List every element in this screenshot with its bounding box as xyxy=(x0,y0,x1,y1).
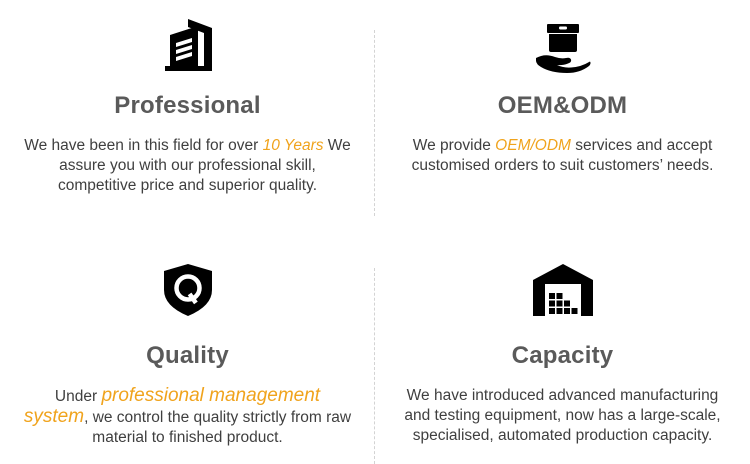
desc-text-part: Under xyxy=(55,388,102,405)
features-grid: Professional We have been in this field … xyxy=(0,0,750,464)
feature-description: We have introduced advanced manufacturin… xyxy=(398,386,728,446)
feature-card-quality: Quality Under professional management sy… xyxy=(0,232,375,464)
desc-text-part: , we control the quality strictly from r… xyxy=(84,409,351,446)
factory-building-icon xyxy=(157,8,219,76)
feature-card-oem-odm: OEM&ODM We provide OEM/ODM services and … xyxy=(375,0,750,232)
feature-card-professional: Professional We have been in this field … xyxy=(0,0,375,232)
feature-description: We have been in this field for over 10 Y… xyxy=(23,136,353,196)
desc-highlight: OEM/ODM xyxy=(495,137,571,154)
feature-description: We provide OEM/ODM services and accept c… xyxy=(404,136,722,176)
desc-text-part: We have been in this field for over xyxy=(24,137,262,154)
desc-text-part: We have introduced advanced manufacturin… xyxy=(404,387,720,444)
feature-description: Under professional management system, we… xyxy=(23,386,353,448)
feature-title: OEM&ODM xyxy=(498,92,627,120)
feature-card-capacity: Capacity We have introduced advanced man… xyxy=(375,232,750,464)
feature-title: Quality xyxy=(146,342,229,370)
feature-title: Capacity xyxy=(512,342,614,370)
desc-text-part: We provide xyxy=(413,137,495,154)
shield-q-icon xyxy=(162,250,214,318)
desc-highlight: 10 Years xyxy=(263,137,324,154)
hand-holding-box-icon xyxy=(533,8,593,76)
column-divider-bottom xyxy=(374,268,375,464)
warehouse-icon xyxy=(532,250,594,318)
feature-title: Professional xyxy=(114,92,260,120)
column-divider-top xyxy=(374,30,375,216)
